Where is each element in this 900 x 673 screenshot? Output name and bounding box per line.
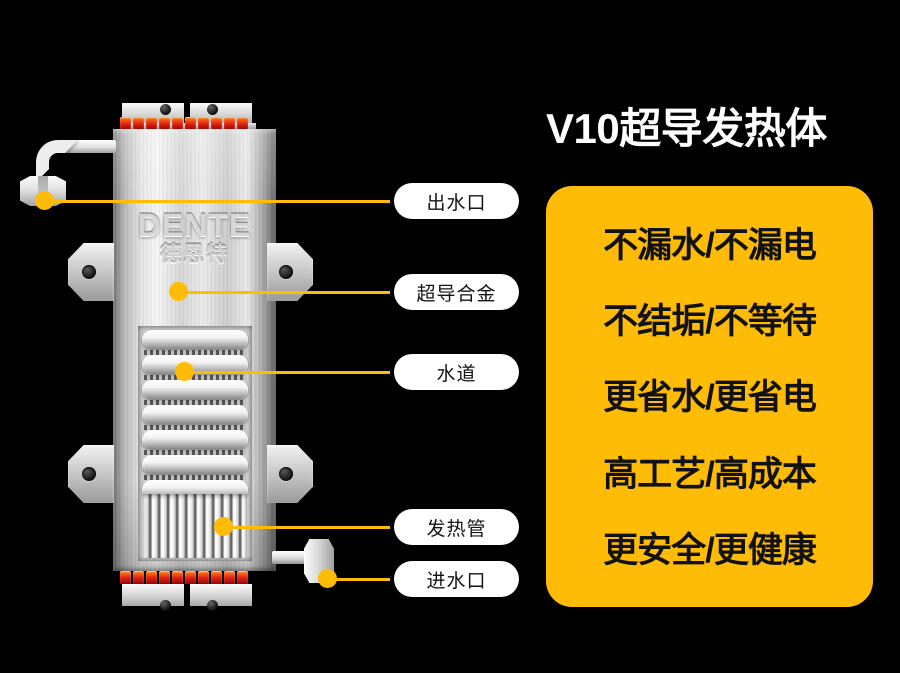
terminal	[237, 571, 248, 584]
terminal	[133, 571, 144, 584]
product-illustration: DENTE 德恩特	[0, 0, 400, 673]
mount-tab-bottom-right	[190, 584, 252, 606]
side-ear-hole-left-upper	[82, 265, 96, 279]
callout-line-heating-tube	[223, 526, 390, 529]
callout-text: 发热管	[426, 514, 486, 541]
terminal	[146, 571, 157, 584]
callout-label-outlet-port[interactable]: 出水口	[394, 183, 519, 219]
side-ear-hole-right	[279, 467, 293, 481]
callout-line-water-channel	[184, 371, 390, 374]
callout-line-superconducting-alloy	[178, 291, 390, 294]
feature-item: 不漏水/不漏电	[603, 226, 816, 266]
callout-label-superconducting-alloy[interactable]: 超导合金	[394, 274, 519, 310]
callout-text: 水道	[436, 359, 476, 386]
terminal	[185, 571, 196, 584]
callout-text: 进水口	[426, 566, 486, 593]
mount-hole-top-left	[160, 104, 171, 115]
terminal-row-bottom	[120, 571, 248, 584]
water-channel-loop	[142, 430, 248, 450]
water-channel-loop	[142, 455, 248, 475]
mount-hole-bottom-left	[160, 600, 171, 611]
callout-label-water-channel[interactable]: 水道	[394, 354, 519, 390]
feature-item: 不结垢/不等待	[603, 302, 816, 342]
callout-text: 超导合金	[416, 279, 496, 306]
callout-line-outlet-port	[44, 200, 390, 203]
side-ear-hole-right-upper	[279, 265, 293, 279]
water-channel-loop	[142, 405, 248, 425]
water-channel-loop	[142, 330, 248, 350]
terminal	[159, 571, 170, 584]
feature-item: 高工艺/高成本	[603, 455, 816, 495]
feature-list-panel: 不漏水/不漏电 不结垢/不等待 更省水/更省电 高工艺/高成本 更安全/更健康	[546, 186, 873, 607]
callout-label-heating-tube[interactable]: 发热管	[394, 509, 519, 545]
terminal	[211, 571, 222, 584]
callout-line-inlet-port	[327, 578, 390, 581]
water-channel-loop	[142, 380, 248, 400]
terminal	[172, 571, 183, 584]
mount-hole-bottom-right	[207, 600, 218, 611]
page-title: V10超导发热体	[546, 103, 876, 155]
terminal	[120, 571, 131, 584]
feature-item: 更安全/更健康	[603, 531, 816, 571]
callout-label-inlet-port[interactable]: 进水口	[394, 561, 519, 597]
side-ear-hole-left	[82, 467, 96, 481]
feature-item: 更省水/更省电	[603, 378, 816, 418]
terminal	[198, 571, 209, 584]
callout-text: 出水口	[426, 188, 486, 215]
terminal	[224, 571, 235, 584]
infographic-canvas: DENTE 德恩特	[0, 0, 900, 673]
mount-tab-bottom-left	[122, 584, 184, 606]
mount-hole-top-right	[207, 104, 218, 115]
